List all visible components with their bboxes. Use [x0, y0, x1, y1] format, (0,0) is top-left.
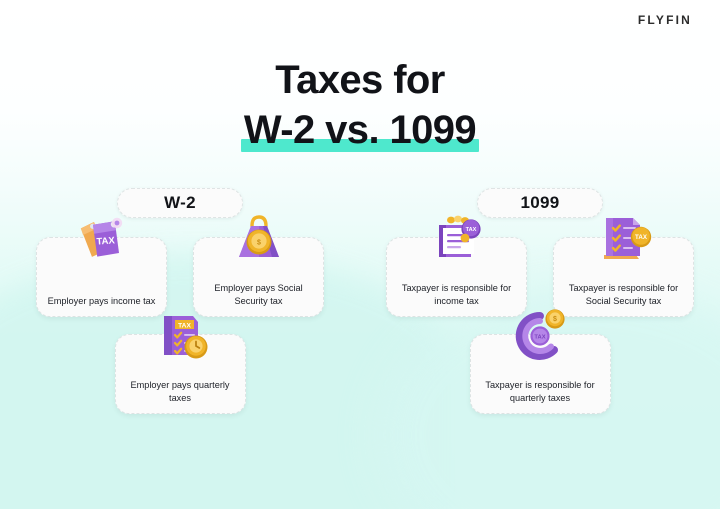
- 1099-cards-row-2: TAX $ Taxpayer is responsible for quarte…: [360, 334, 720, 414]
- card-w2-income-tax[interactable]: TAX Employer pays income tax: [36, 237, 167, 317]
- card-w2-quarterly[interactable]: TAX: [115, 334, 246, 414]
- svg-text:TAX: TAX: [635, 234, 648, 241]
- svg-text:TAX: TAX: [96, 235, 116, 247]
- svg-text:TAX: TAX: [465, 227, 476, 233]
- pill-w2: W-2: [117, 188, 243, 218]
- pill-1099: 1099: [477, 188, 603, 218]
- flyfin-logo: FLYFIN: [638, 13, 692, 27]
- card-label: Taxpayer is responsible for income tax: [387, 282, 526, 307]
- w2-cards-row-2: TAX: [0, 334, 360, 414]
- card-label: Employer pays quarterly taxes: [116, 379, 245, 404]
- svg-text:$: $: [553, 316, 557, 323]
- card-1099-social-security[interactable]: TAX Taxpayer is responsible for Social S…: [553, 237, 694, 317]
- document-coin-icon: TAX: [593, 211, 655, 265]
- page-title: Taxes for W-2 vs. 1099: [0, 57, 720, 153]
- card-label: Employer pays income tax: [42, 295, 162, 308]
- column-w2: W-2: [0, 188, 360, 488]
- svg-text:TAX: TAX: [178, 322, 191, 329]
- card-1099-quarterly[interactable]: TAX $ Taxpayer is responsible for quarte…: [470, 334, 611, 414]
- w2-cards-row-1: TAX Employer pays income tax: [0, 237, 360, 317]
- notebook-coin-icon: TAX: [426, 211, 488, 265]
- title-line-2: W-2 vs. 1099: [238, 108, 482, 152]
- money-bag-icon: $: [228, 211, 290, 265]
- card-1099-income-tax[interactable]: TAX Taxpayer is responsible for income t…: [386, 237, 527, 317]
- column-1099: 1099: [360, 188, 720, 488]
- card-label: Employer pays Social Security tax: [194, 282, 323, 307]
- comparison-columns: W-2: [0, 188, 720, 488]
- infographic-page: FLYFIN Taxes for W-2 vs. 1099 W-2: [0, 0, 720, 509]
- 1099-cards-row-1: TAX Taxpayer is responsible for income t…: [360, 237, 720, 317]
- tax-checklist-icon: TAX: [149, 308, 211, 362]
- refresh-coin-icon: TAX $: [509, 308, 571, 362]
- tax-tag-icon: TAX: [71, 211, 133, 265]
- title-line-1: Taxes for: [0, 57, 720, 103]
- svg-text:$: $: [257, 239, 261, 246]
- card-label: Taxpayer is responsible for quarterly ta…: [471, 379, 610, 404]
- card-label: Taxpayer is responsible for Social Secur…: [554, 282, 693, 307]
- svg-text:TAX: TAX: [534, 335, 545, 341]
- card-w2-social-security[interactable]: $ Employer pays Social Security tax: [193, 237, 324, 317]
